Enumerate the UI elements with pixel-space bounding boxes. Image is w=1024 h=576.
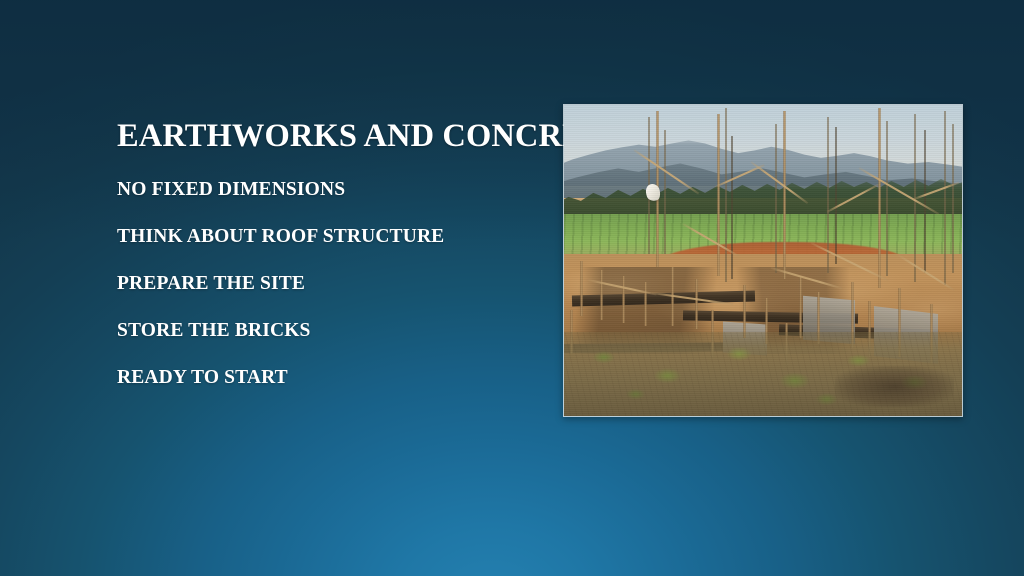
photo-rebar-post xyxy=(924,130,926,273)
photo-rebar-post xyxy=(944,111,946,285)
photo-bracing-stick xyxy=(858,167,939,215)
photo-rebar-post xyxy=(835,127,837,264)
photo-rebar-post xyxy=(580,261,583,317)
bullet-list: NO FIXED DIMENSIONS THINK ABOUT ROOF STR… xyxy=(117,178,547,413)
photo-rebar-post xyxy=(783,111,786,279)
photo-bracing-stick xyxy=(826,184,878,213)
photo-rebar-post xyxy=(775,124,777,273)
presentation-slide: EARTHWORKS AND CONCRETE NO FIXED DIMENSI… xyxy=(0,0,1024,576)
photo-rebar-post xyxy=(695,279,698,329)
photo-rebar-post xyxy=(952,124,954,273)
construction-site-photo xyxy=(564,105,962,416)
list-item: STORE THE BRICKS xyxy=(117,319,547,366)
photo-bracing-stick xyxy=(898,254,955,291)
photo-rebar-post xyxy=(725,108,727,282)
photo-rebar-post xyxy=(743,285,746,338)
photo-bracing-stick xyxy=(771,267,843,289)
photo-rebar-post xyxy=(886,121,888,277)
photo-bracing-stick xyxy=(651,292,732,305)
slide-text-block: EARTHWORKS AND CONCRETE NO FIXED DIMENSI… xyxy=(117,116,547,413)
list-item: READY TO START xyxy=(117,366,547,413)
photo-bracing-stick xyxy=(715,164,765,188)
list-item: THINK ABOUT ROOF STRUCTURE xyxy=(117,225,547,272)
photo-rebar-post xyxy=(799,276,802,338)
photo-rebar-post xyxy=(731,136,733,279)
photo-rebar-post xyxy=(664,130,666,254)
construction-site-photo-frame xyxy=(563,104,963,417)
photo-dark-soil-patch xyxy=(835,366,954,406)
photo-rebar-post xyxy=(717,114,720,276)
photo-rebar-post xyxy=(622,276,625,323)
photo-bracing-stick xyxy=(810,242,888,281)
photo-rebar-post xyxy=(878,108,881,288)
list-item: PREPARE THE SITE xyxy=(117,272,547,319)
photo-bracing-stick xyxy=(633,149,699,194)
photo-rebar-post xyxy=(644,282,647,326)
list-item: NO FIXED DIMENSIONS xyxy=(117,178,547,225)
page-title: EARTHWORKS AND CONCRETE xyxy=(117,116,547,156)
photo-rebar-post xyxy=(600,270,603,320)
